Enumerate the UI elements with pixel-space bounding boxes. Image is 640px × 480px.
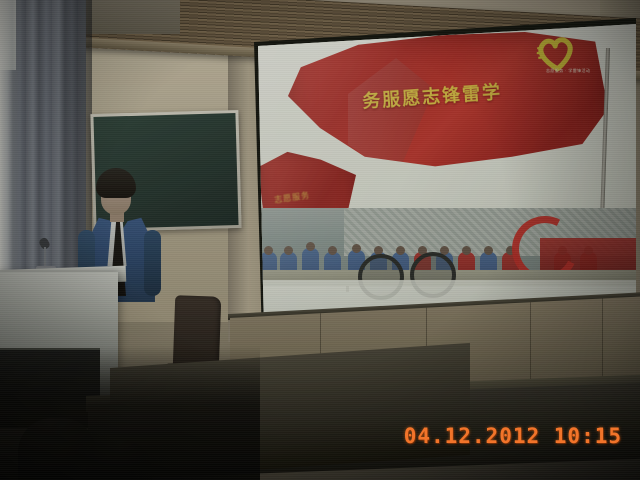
photograph: 志愿服务 务服愿志锋雷学 xyxy=(0,0,640,480)
curtain-highlight xyxy=(0,0,22,300)
presenter-hair xyxy=(96,168,136,198)
foreground-shadow xyxy=(0,346,260,480)
microphone-stem xyxy=(44,247,46,267)
projected-slide: 志愿服务 务服愿志锋雷学 xyxy=(250,22,636,334)
presenter-arm-right xyxy=(144,230,161,296)
camera-timestamp: 04.12.2012 10:15 xyxy=(404,424,622,448)
projection-screen: 志愿服务 务服愿志锋雷学 xyxy=(250,22,636,334)
banner-text: 志愿服务 · 学雷锋活动 xyxy=(546,68,626,74)
